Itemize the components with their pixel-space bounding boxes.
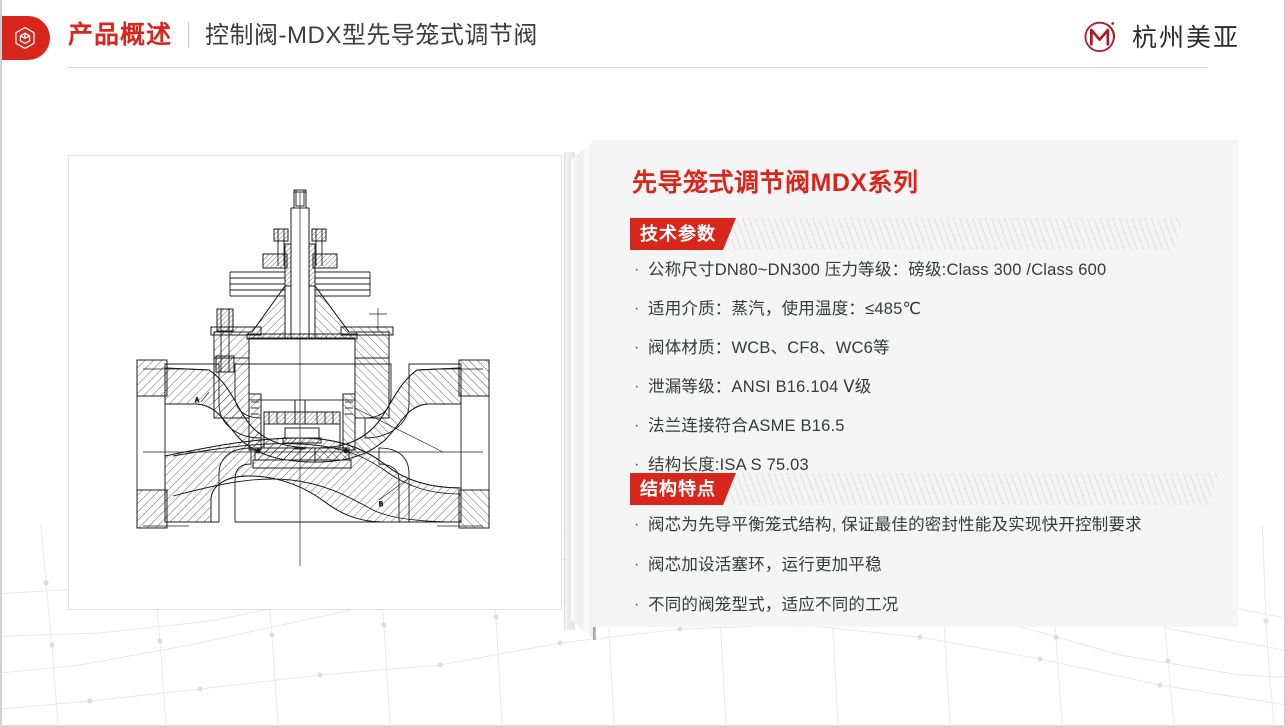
list-item-text: 不同的阀笼型式，适应不同的工况 <box>648 595 1142 615</box>
list-item: · 结构长度:ISA S 75.03 <box>634 455 1106 475</box>
list-item-text: 阀芯为先导平衡笼式结构, 保证最佳的密封性能及实现快开控制要求 <box>648 515 1142 535</box>
list-item-text: 法兰连接符合ASME B16.5 <box>648 416 1106 436</box>
bullet-glyph: · <box>634 515 648 535</box>
slide-page: 产品概述 控制阀-MDX型先导笼式调节阀 杭州美亚 <box>0 0 1286 727</box>
circled-m-logo-icon <box>1079 14 1123 58</box>
bullet-glyph: · <box>634 299 648 319</box>
page-header: 产品概述 控制阀-MDX型先导笼式调节阀 杭州美亚 <box>0 0 1286 68</box>
section-hatch-decoration <box>728 473 1218 505</box>
bullet-glyph: · <box>634 338 648 358</box>
list-item: · 适用介质：蒸汽，使用温度：≤485℃ <box>634 299 1106 319</box>
list-item-text: 结构长度:ISA S 75.03 <box>648 455 1106 475</box>
list-item: · 公称尺寸DN80~DN300 压力等级：磅级:Class 300 /Clas… <box>634 260 1106 280</box>
section-hatch-decoration <box>728 218 1183 250</box>
bullet-glyph: · <box>634 416 648 436</box>
list-item: · 阀芯为先导平衡笼式结构, 保证最佳的密封性能及实现快开控制要求 <box>634 515 1142 535</box>
brand-lockup: 杭州美亚 <box>1079 14 1240 58</box>
header-divider <box>188 22 189 48</box>
list-item: · 阀芯加设活塞环，运行更加平稳 <box>634 555 1142 575</box>
list-item: · 法兰连接符合ASME B16.5 <box>634 416 1106 436</box>
list-item-text: 公称尺寸DN80~DN300 压力等级：磅级:Class 300 /Class … <box>648 260 1106 280</box>
brand-name: 杭州美亚 <box>1132 18 1240 54</box>
section-tag-structure: 结构特点 <box>630 473 736 505</box>
svg-text:A: A <box>195 398 199 404</box>
bullet-glyph: · <box>634 555 648 575</box>
list-item-text: 泄漏等级：ANSI B16.104 Ⅴ级 <box>648 377 1106 397</box>
structure-feature-list: · 阀芯为先导平衡笼式结构, 保证最佳的密封性能及实现快开控制要求 · 阀芯加设… <box>634 515 1142 627</box>
technical-parameter-list: · 公称尺寸DN80~DN300 压力等级：磅级:Class 300 /Clas… <box>634 260 1106 494</box>
list-item-text: 阀体材质：WCB、CF8、WC6等 <box>648 338 1106 358</box>
bullet-glyph: · <box>634 455 648 475</box>
header-badge <box>0 16 50 60</box>
bullet-glyph: · <box>634 377 648 397</box>
page-subtitle: 控制阀-MDX型先导笼式调节阀 <box>205 17 538 55</box>
frame-edge-left <box>0 0 2 727</box>
header-rule <box>68 67 1208 68</box>
section-tag-technical: 技术参数 <box>630 218 736 250</box>
bullet-glyph: · <box>634 595 648 615</box>
bullet-glyph: · <box>634 260 648 280</box>
valve-drawing-card[interactable]: A B <box>68 155 562 610</box>
list-item: · 泄漏等级：ANSI B16.104 Ⅴ级 <box>634 377 1106 397</box>
page-title: 产品概述 <box>68 16 172 54</box>
list-item: · 不同的阀笼型式，适应不同的工况 <box>634 595 1142 615</box>
svg-text:B: B <box>379 502 383 508</box>
valve-cross-section-drawing: A B <box>69 156 561 609</box>
list-item-text: 适用介质：蒸汽，使用温度：≤485℃ <box>648 299 1106 319</box>
header-title-zone: 产品概述 控制阀-MDX型先导笼式调节阀 <box>68 16 538 54</box>
spec-panel: 先导笼式调节阀MDX系列 技术参数 · 公称尺寸DN80~DN300 压力等级：… <box>592 140 1238 627</box>
spec-title: 先导笼式调节阀MDX系列 <box>632 163 919 199</box>
list-item-text: 阀芯加设活塞环，运行更加平稳 <box>648 555 1142 575</box>
cube-hexagon-icon <box>13 26 37 50</box>
list-item: · 阀体材质：WCB、CF8、WC6等 <box>634 338 1106 358</box>
